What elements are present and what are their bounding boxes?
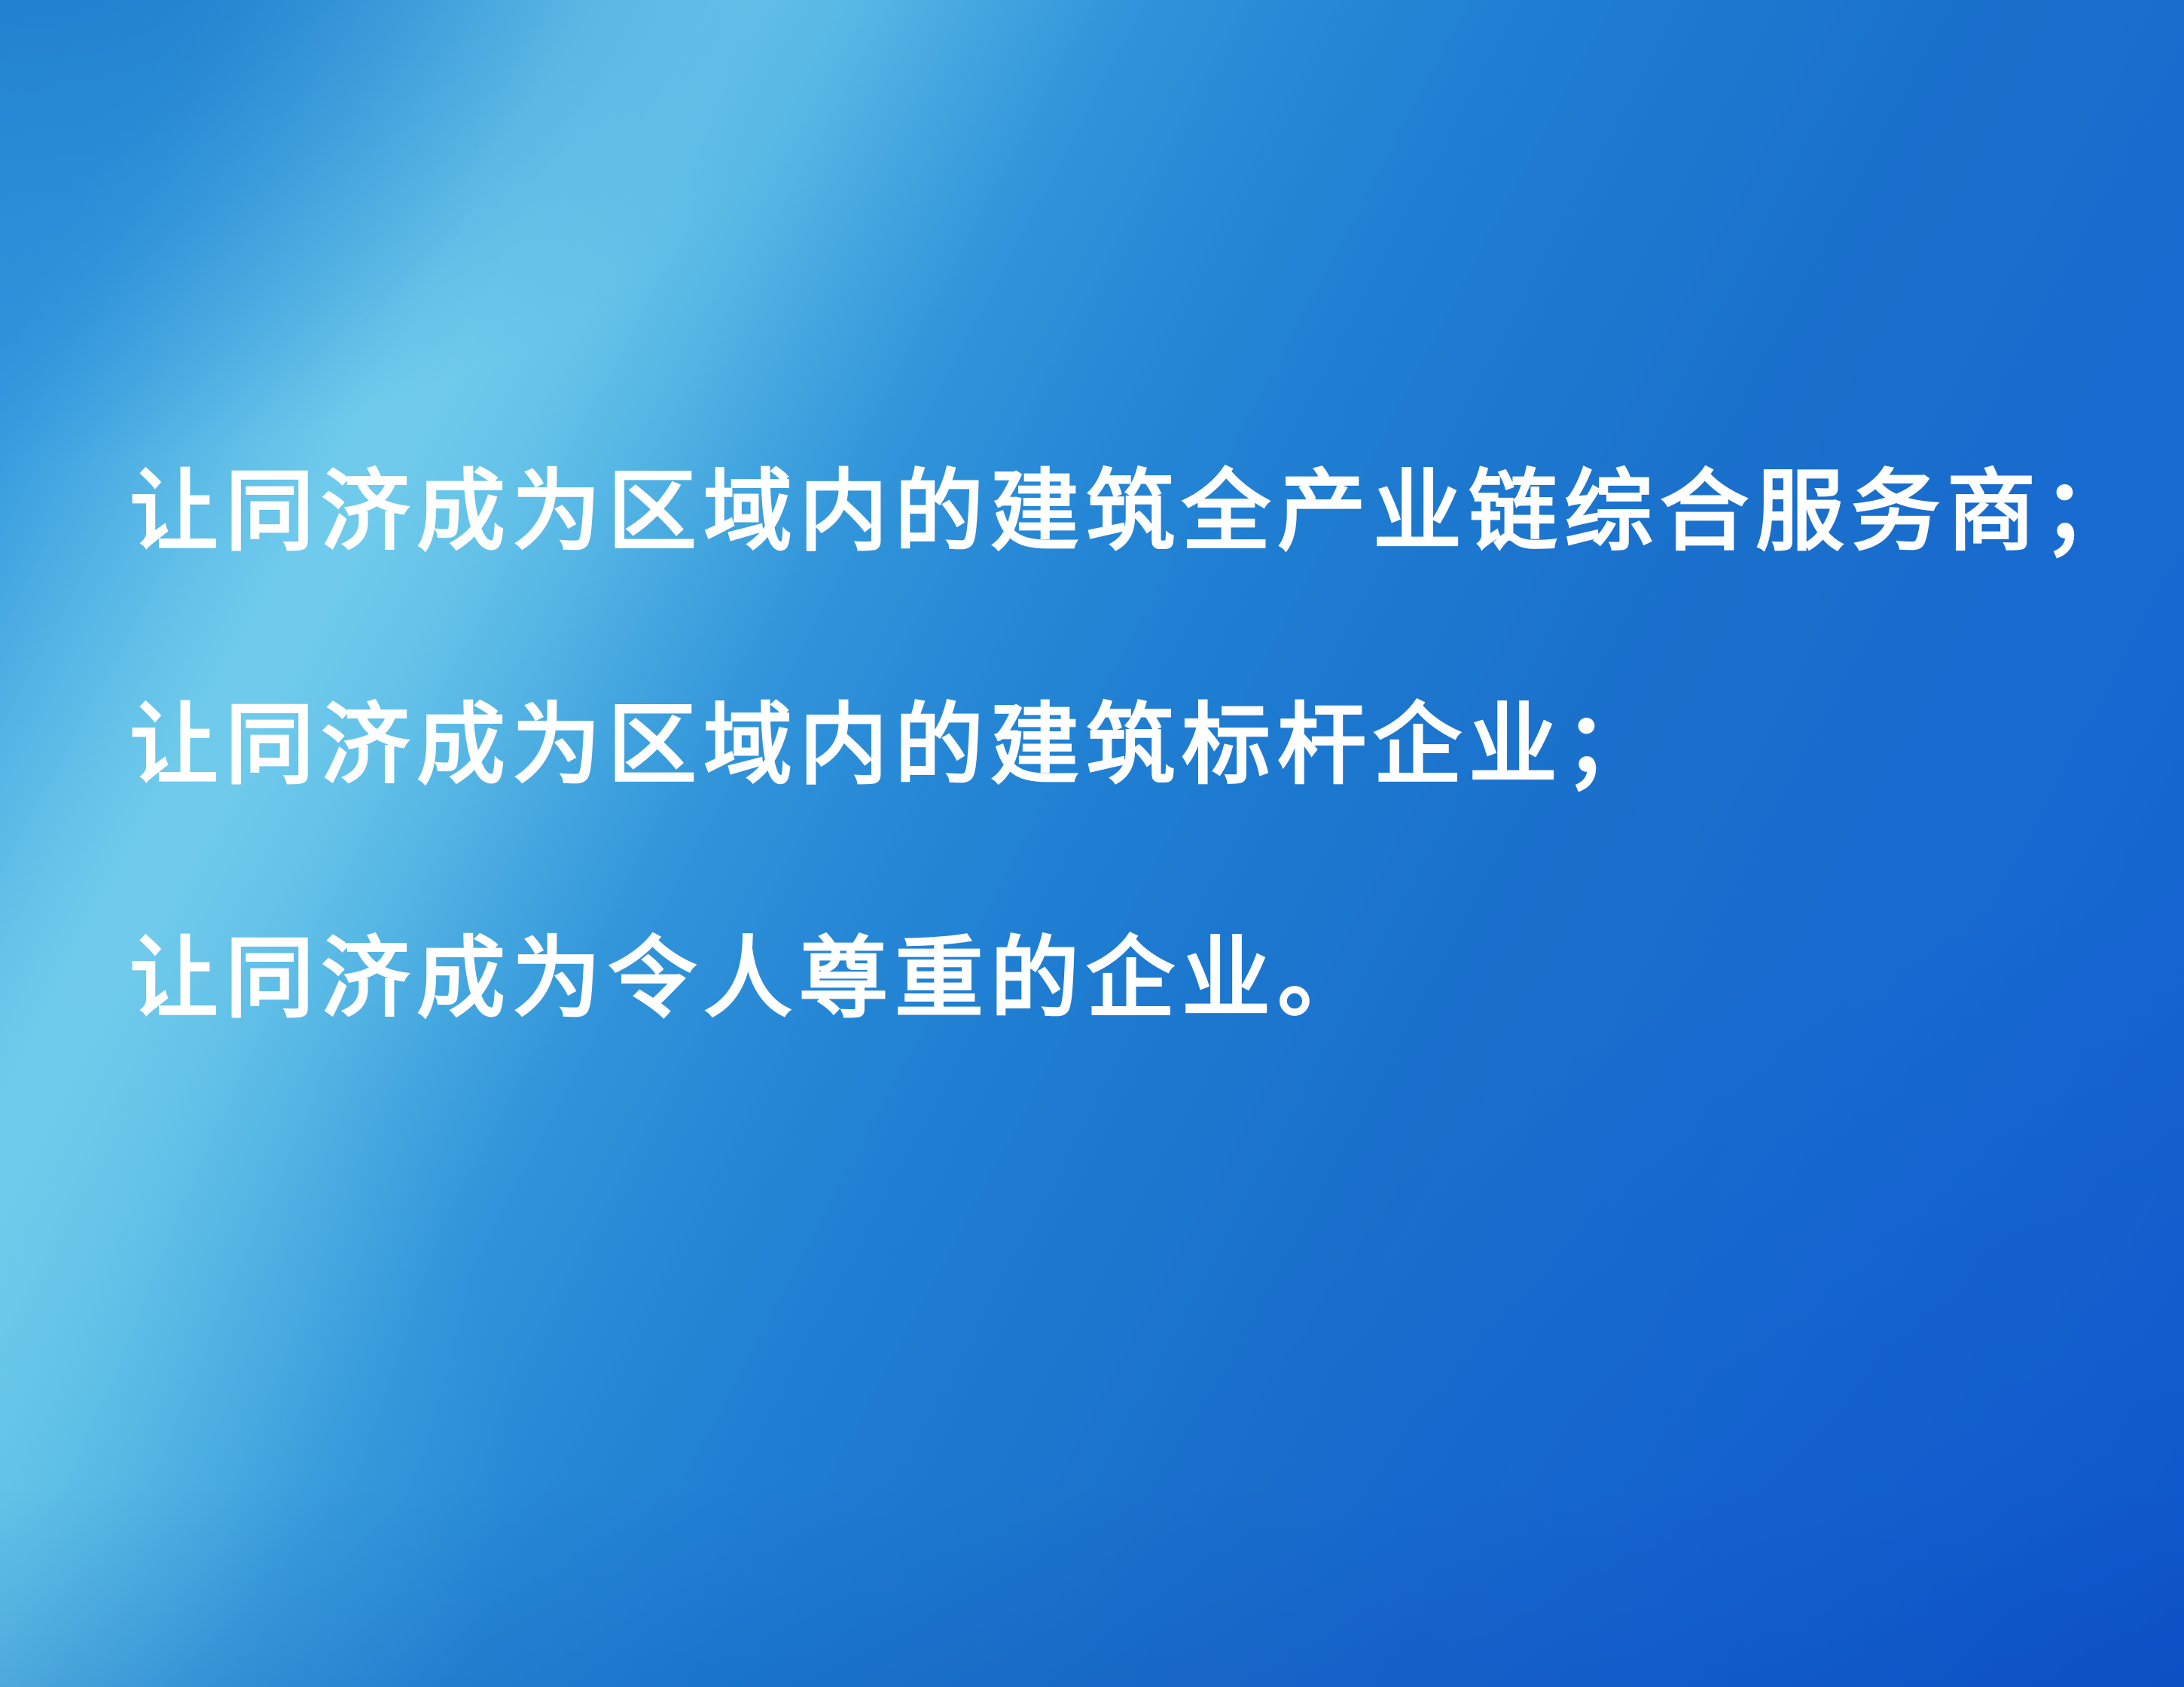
slide-text-block: 让同济成为区域内的建筑全产业链综合服务商； 让同济成为区域内的建筑标杆企业； 让… — [130, 444, 2103, 1045]
slide-text-line-2: 让同济成为区域内的建筑标杆企业； — [130, 678, 2103, 812]
slide-text-line-1: 让同济成为区域内的建筑全产业链综合服务商； — [130, 444, 2103, 578]
presentation-slide: 让同济成为区域内的建筑全产业链综合服务商； 让同济成为区域内的建筑标杆企业； 让… — [0, 0, 2184, 1687]
slide-text-line-3: 让同济成为令人尊重的企业。 — [130, 911, 2103, 1045]
